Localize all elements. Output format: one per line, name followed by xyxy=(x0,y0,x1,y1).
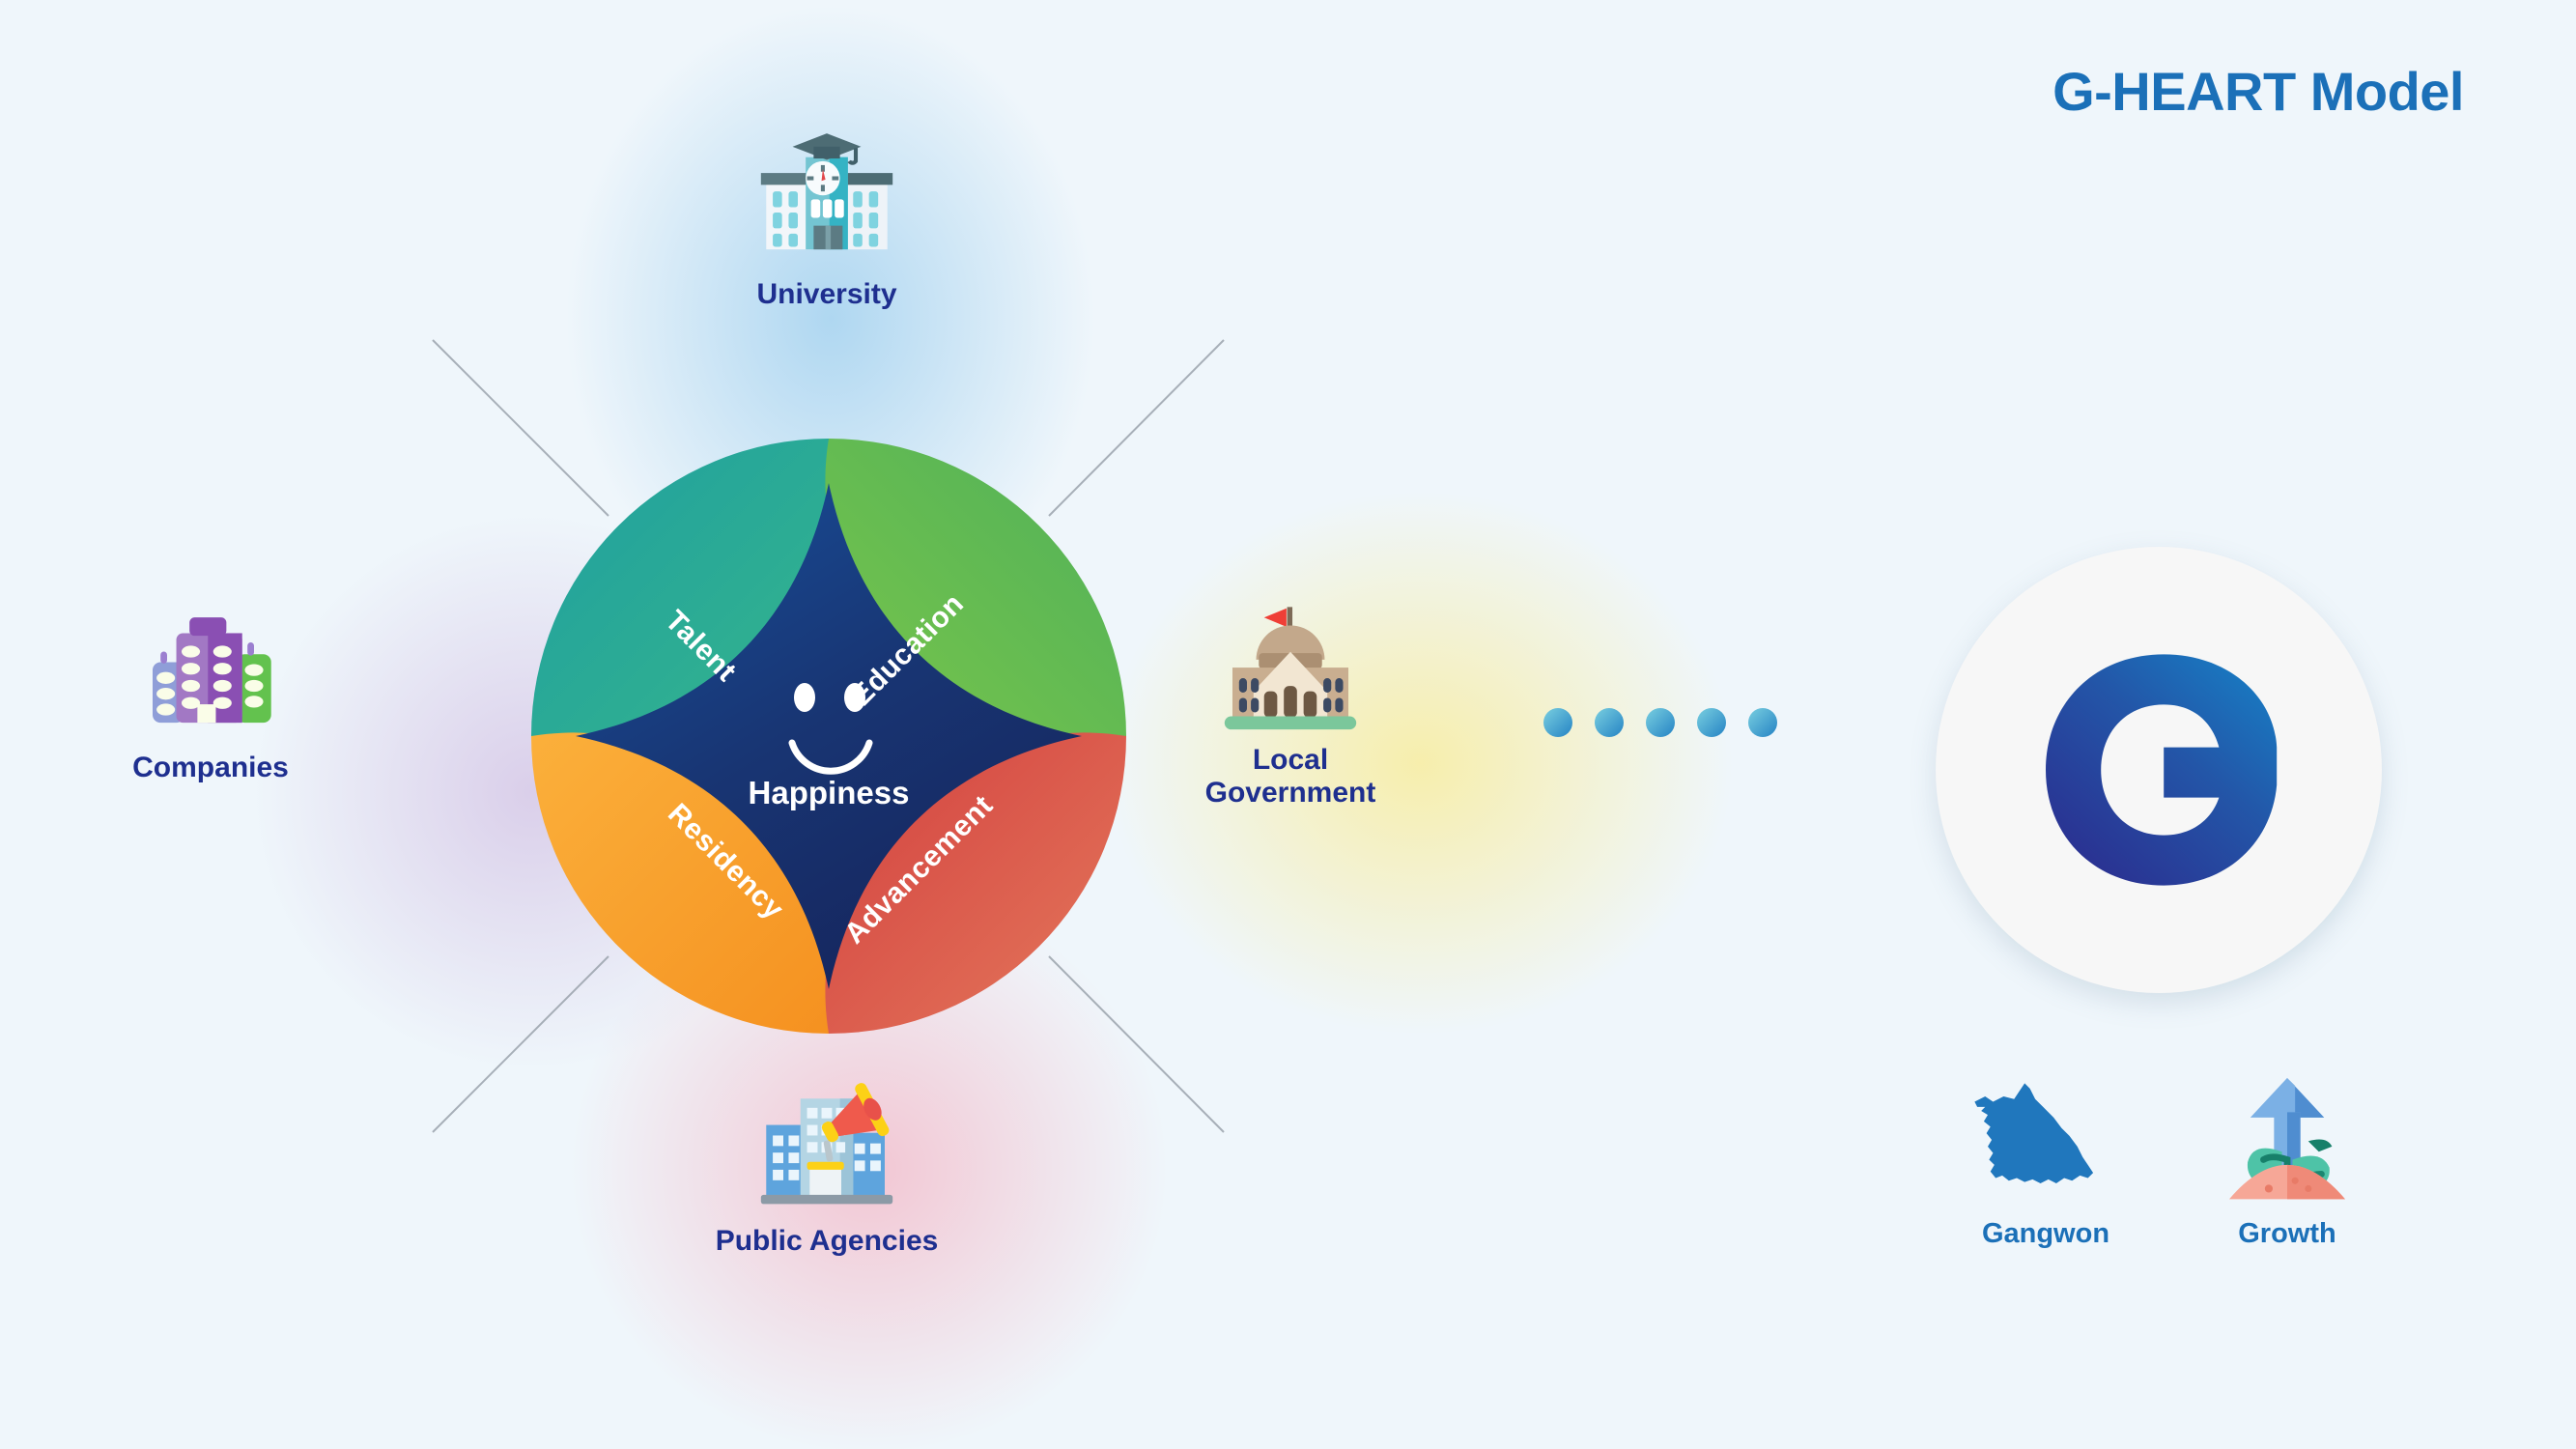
connector-dot-3 xyxy=(1646,708,1675,737)
stakeholder-label-public-agencies: Public Agencies xyxy=(682,1225,972,1258)
connector-dots xyxy=(1543,708,1777,737)
outcome-growth[interactable]: Growth xyxy=(2171,1067,2403,1250)
university-building-icon xyxy=(745,126,909,270)
outcome-gangwon[interactable]: Gangwon xyxy=(1930,1067,2162,1250)
stakeholder-public-agencies[interactable]: Public Agencies xyxy=(682,1072,972,1258)
page-title: G-HEART Model xyxy=(2052,60,2464,123)
stakeholder-label-local-government: Local Government xyxy=(1146,744,1435,809)
happiness-label: Happiness xyxy=(749,775,910,810)
connector-dot-5 xyxy=(1748,708,1777,737)
g-heart-wheel: Talent Education Residency Advancement H… xyxy=(510,417,1147,1055)
g-logo-badge[interactable] xyxy=(1936,547,2382,993)
infographic-canvas: G-HEART Model xyxy=(0,0,2576,1449)
stakeholder-university[interactable]: University xyxy=(682,126,972,311)
g-logo-icon xyxy=(2033,644,2284,895)
seedling-growth-arrow-icon xyxy=(2205,1067,2369,1212)
stakeholder-local-government[interactable]: Local Government xyxy=(1146,591,1435,809)
stakeholder-companies[interactable]: Companies xyxy=(66,599,355,784)
connector-dot-4 xyxy=(1697,708,1726,737)
connector-dot-1 xyxy=(1543,708,1572,737)
stakeholder-label-university: University xyxy=(682,278,972,311)
public-agency-megaphone-icon xyxy=(745,1072,909,1217)
local-government-line-2: Government xyxy=(1146,777,1435,810)
stakeholder-label-companies: Companies xyxy=(66,752,355,784)
gangwon-province-map-icon xyxy=(1964,1067,2128,1212)
outcome-label-growth: Growth xyxy=(2171,1218,2403,1250)
local-government-line-1: Local xyxy=(1146,744,1435,777)
outcome-label-gangwon: Gangwon xyxy=(1930,1218,2162,1250)
connector-dot-2 xyxy=(1595,708,1624,737)
government-capitol-icon xyxy=(1208,591,1373,736)
company-buildings-icon xyxy=(128,599,293,744)
